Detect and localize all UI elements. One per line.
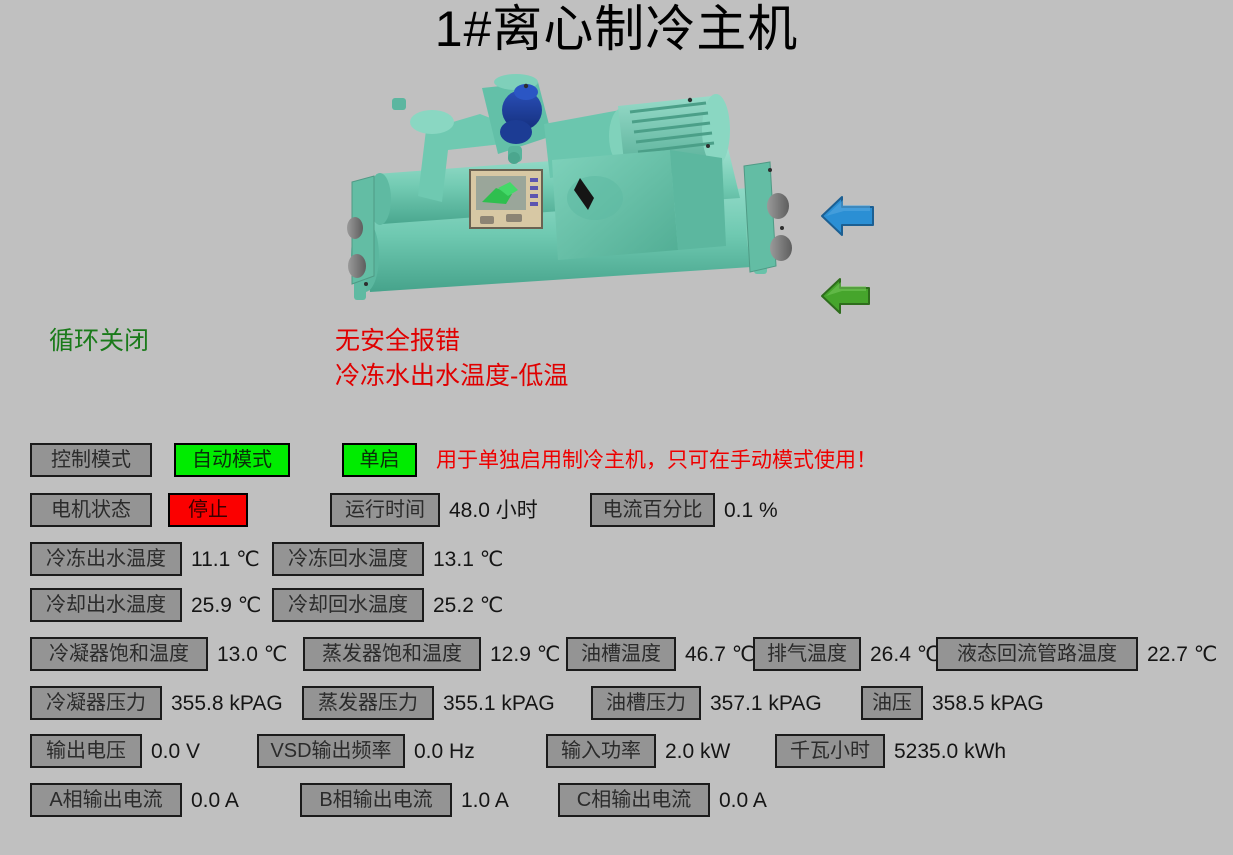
output-voltage: 输出电压0.0 V [30,734,200,768]
chilled-water-temp-row: 冷冻出水温度11.1 ℃冷冻回水温度13.1 ℃ [0,542,1233,586]
page-title: 1#离心制冷主机 [0,0,1233,60]
input-power-label: 输入功率 [546,734,656,768]
current-percent-label: 电流百分比 [590,493,715,527]
guide-vane-actuator [482,74,552,164]
chilled-return-temp: 冷冻回水温度13.1 ℃ [272,542,503,576]
single-start-note: 用于单独启用制冷主机，只可在手动模式使用！ [436,443,877,477]
right-flanges [744,162,792,272]
phase-c-current-label: C相输出电流 [558,783,710,817]
auto-mode-button-label[interactable]: 自动模式 [174,443,290,477]
output-voltage-value: 0.0 V [151,741,200,762]
cooling-supply-temp-value: 25.9 ℃ [191,595,261,616]
left-flanges [347,176,374,284]
chilled-return-temp-label: 冷冻回水温度 [272,542,424,576]
oil-sump-pressure-value: 357.1 kPAG [710,693,822,714]
oil-pressure-label: 油压 [861,686,923,720]
evaporator-pressure-value: 355.1 kPAG [443,693,555,714]
kilowatt-hours: 千瓦小时5235.0 kWh [775,734,1006,768]
liquid-return-line-temp-label: 液态回流管路温度 [936,637,1138,671]
cooling-supply-temp: 冷却出水温度25.9 ℃ [30,588,261,622]
cooling-water-temp-row: 冷却出水温度25.9 ℃冷却回水温度25.2 ℃ [0,588,1233,632]
discharge-temp-label: 排气温度 [753,637,861,671]
vsd-output-frequency-value: 0.0 Hz [414,741,475,762]
cycle-status-text: 循环关闭 [49,326,149,356]
phase-c-current: C相输出电流0.0 A [558,783,767,817]
chilled-return-temp-value: 13.1 ℃ [433,549,503,570]
oil-sump-pressure: 油槽压力357.1 kPAG [591,686,822,720]
run-time: 运行时间48.0 小时 [330,493,538,527]
condenser-pressure-value: 355.8 kPAG [171,693,283,714]
current-percent: 电流百分比0.1 % [590,493,778,527]
evaporator-sat-temp: 蒸发器饱和温度12.9 ℃ [303,637,560,671]
oil-sump-temp: 油槽温度46.7 ℃ [566,637,755,671]
condenser-pressure: 冷凝器压力355.8 kPAG [30,686,283,720]
discharge-temp: 排气温度26.4 ℃ [753,637,940,671]
output-voltage-label: 输出电压 [30,734,142,768]
vsd-output-frequency: VSD输出频率0.0 Hz [257,734,475,768]
single-start-button[interactable]: 单启 [342,443,417,477]
phase-c-current-value: 0.0 A [719,790,767,811]
control-mode: 控制模式 [30,443,152,477]
oil-pressure-value: 358.5 kPAG [932,693,1044,714]
evaporator-sat-temp-label: 蒸发器饱和温度 [303,637,481,671]
condenser-sat-temp: 冷凝器饱和温度13.0 ℃ [30,637,287,671]
motor-status-row: 电机状态停止运行时间48.0 小时电流百分比0.1 % [0,493,1233,537]
phase-a-current-label: A相输出电流 [30,783,182,817]
auto-mode-button[interactable]: 自动模式 [174,443,290,477]
cooling-return-temp-value: 25.2 ℃ [433,595,503,616]
phase-a-current: A相输出电流0.0 A [30,783,239,817]
safety-alarm-text: 无安全报错 [335,326,460,356]
liquid-return-line-temp-value: 22.7 ℃ [1147,644,1217,665]
condenser-sat-temp-label: 冷凝器饱和温度 [30,637,208,671]
cooling-supply-temp-label: 冷却出水温度 [30,588,182,622]
saturation-temp-row: 冷凝器饱和温度13.0 ℃蒸发器饱和温度12.9 ℃油槽温度46.7 ℃排气温度… [0,637,1233,681]
oil-sump-pressure-label: 油槽压力 [591,686,701,720]
phase-b-current-value: 1.0 A [461,790,509,811]
evaporator-pressure: 蒸发器压力355.1 kPAG [302,686,555,720]
single-start-note: 用于单独启用制冷主机，只可在手动模式使用！ [436,450,877,471]
motor-status: 电机状态 [30,493,152,527]
control-mode-row: 控制模式自动模式单启用于单独启用制冷主机，只可在手动模式使用！ [0,443,1233,487]
chilled-supply-temp-value: 11.1 ℃ [191,549,260,570]
kilowatt-hours-label: 千瓦小时 [775,734,885,768]
evaporator-pressure-label: 蒸发器压力 [302,686,434,720]
cooling-return-temp: 冷却回水温度25.2 ℃ [272,588,503,622]
pressure-row: 冷凝器压力355.8 kPAG蒸发器压力355.1 kPAG油槽压力357.1 … [0,686,1233,730]
condenser-water-arrow-icon [820,275,872,317]
motor-state-indicator: 停止 [168,493,248,527]
input-power: 输入功率2.0 kW [546,734,730,768]
chilled-water-low-temp-alarm-text: 冷冻水出水温度-低温 [335,361,568,391]
evaporator-sat-temp-value: 12.9 ℃ [490,644,560,665]
hmi-display [470,170,542,228]
oil-sump-temp-value: 46.7 ℃ [685,644,755,665]
chilled-supply-temp: 冷冻出水温度11.1 ℃ [30,542,260,576]
oil-pressure: 油压358.5 kPAG [861,686,1044,720]
discharge-temp-value: 26.4 ℃ [870,644,940,665]
chiller-graphic [330,70,850,320]
oil-sump-temp-label: 油槽温度 [566,637,676,671]
condenser-sat-temp-value: 13.0 ℃ [217,644,287,665]
motor-status-label: 电机状态 [30,493,152,527]
single-start-button-label[interactable]: 单启 [342,443,417,477]
condenser-pressure-label: 冷凝器压力 [30,686,162,720]
phase-current-row: A相输出电流0.0 AB相输出电流1.0 AC相输出电流0.0 A [0,783,1233,827]
phase-a-current-value: 0.0 A [191,790,239,811]
current-percent-value: 0.1 % [724,500,778,521]
chilled-supply-temp-label: 冷冻出水温度 [30,542,182,576]
phase-b-current-label: B相输出电流 [300,783,452,817]
input-power-value: 2.0 kW [665,741,730,762]
cooling-return-temp-label: 冷却回水温度 [272,588,424,622]
chilled-water-arrow-icon [820,193,876,239]
control-enclosure [552,150,726,260]
kilowatt-hours-value: 5235.0 kWh [894,741,1006,762]
vsd-output-frequency-label: VSD输出频率 [257,734,405,768]
electrical-row: 输出电压0.0 VVSD输出频率0.0 Hz输入功率2.0 kW千瓦小时5235… [0,734,1233,778]
phase-b-current: B相输出电流1.0 A [300,783,509,817]
motor-state-indicator-label: 停止 [168,493,248,527]
run-time-value: 48.0 小时 [449,500,538,521]
run-time-label: 运行时间 [330,493,440,527]
control-mode-label: 控制模式 [30,443,152,477]
liquid-return-line-temp: 液态回流管路温度22.7 ℃ [936,637,1217,671]
